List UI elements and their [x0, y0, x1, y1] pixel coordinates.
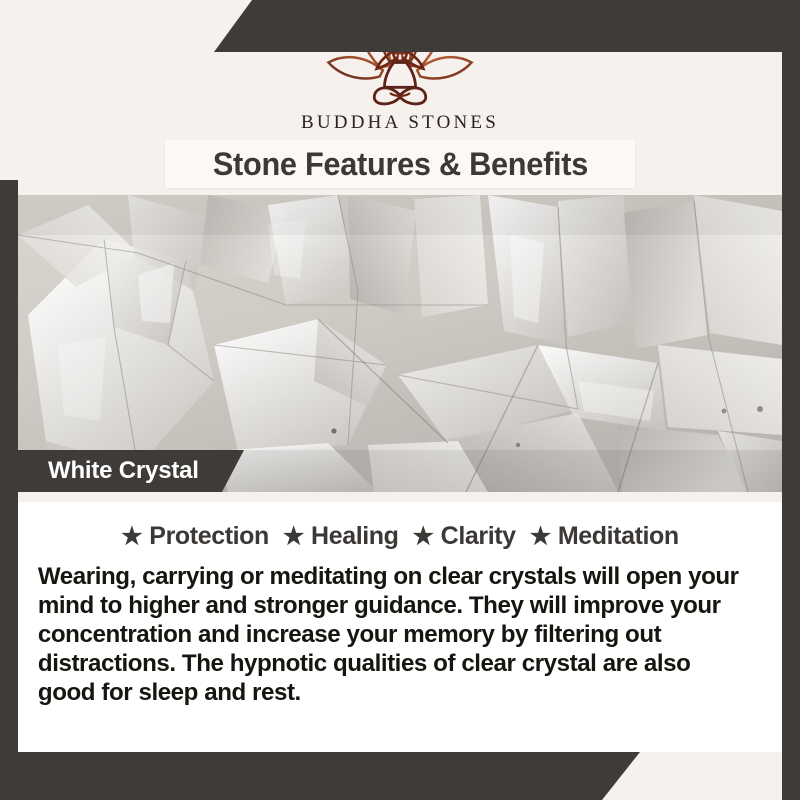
description-text: Wearing, carrying or meditating on clear…	[32, 563, 757, 708]
stone-name-badge: White Crystal	[18, 450, 244, 492]
poster-root: BUDDHA STONES Stone Features & Benefits	[0, 0, 800, 800]
star-icon: ★	[413, 525, 434, 549]
benefit-label: Clarity	[441, 522, 516, 551]
content-panel: ★ Protection ★ Healing ★ Clarity ★ Medit…	[18, 502, 782, 752]
stone-name-label: White Crystal	[48, 457, 199, 485]
brand-name: BUDDHA STONES	[301, 112, 499, 134]
edge-decoration-left	[0, 180, 18, 800]
corner-decoration-top-right	[214, 0, 800, 52]
edge-decoration-right	[782, 0, 800, 800]
benefits-row: ★ Protection ★ Healing ★ Clarity ★ Medit…	[32, 522, 768, 551]
benefit-label: Protection	[149, 522, 269, 551]
benefit-label: Meditation	[558, 522, 679, 551]
title-band: Stone Features & Benefits	[165, 140, 635, 188]
star-icon: ★	[121, 525, 142, 549]
star-icon: ★	[530, 525, 551, 549]
benefit-item-clarity: ★ Clarity	[413, 522, 516, 551]
benefit-item-meditation: ★ Meditation	[530, 522, 679, 551]
hero-image	[18, 195, 782, 492]
divider-strip	[18, 492, 782, 502]
benefit-item-protection: ★ Protection	[121, 522, 269, 551]
corner-decoration-bottom-left	[0, 752, 640, 800]
benefit-item-healing: ★ Healing	[283, 522, 399, 551]
star-icon: ★	[283, 525, 304, 549]
benefit-label: Healing	[311, 522, 399, 551]
page-title: Stone Features & Benefits	[212, 146, 587, 183]
